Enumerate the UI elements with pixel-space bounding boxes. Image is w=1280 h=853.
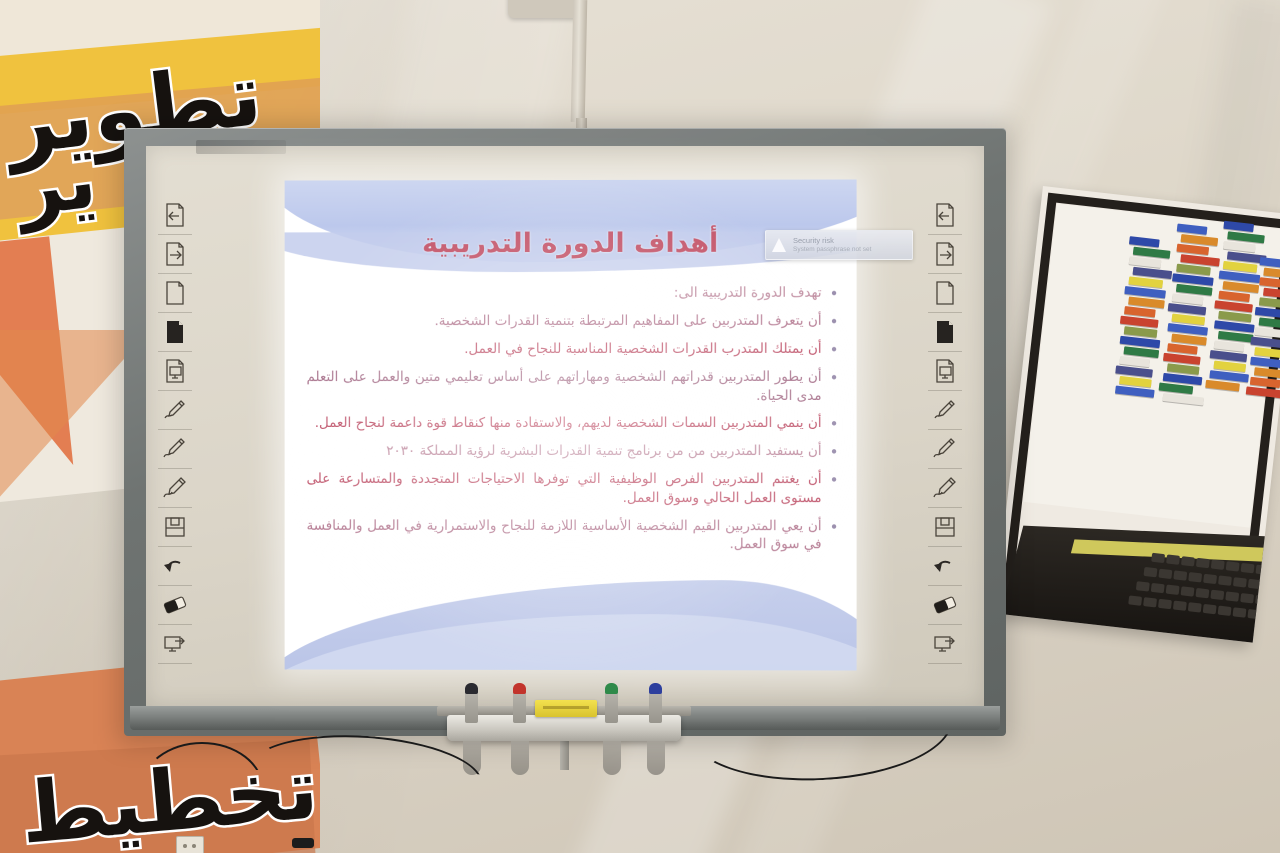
laptop-key <box>1144 567 1158 577</box>
marker-stroke-icon <box>933 475 957 501</box>
pen-stroke-icon <box>933 436 957 462</box>
laptop-key <box>1203 604 1217 614</box>
slide-bullet: •تهدف الدورة التدريبية الى: <box>307 284 839 304</box>
tool-pen-medium-r[interactable] <box>928 430 962 469</box>
monitor-page-icon <box>934 358 956 384</box>
slide-bullet: •أن يمتلك المتدرب القدرات الشخصية المناس… <box>307 340 839 359</box>
monitor-export-icon <box>933 632 957 656</box>
security-notification-toast[interactable]: Security risk System passphrase not set <box>765 230 913 260</box>
pen-slot <box>511 741 529 775</box>
slide-bullet: •أن يطور المتدربين قدراتهم الشخصية ومهار… <box>307 368 839 405</box>
laptop-key <box>1188 602 1202 612</box>
blank-page-icon <box>934 280 956 306</box>
tool-black-page-r[interactable] <box>928 313 962 352</box>
bullet-dot-icon: • <box>830 341 839 359</box>
tool-desktop-mode[interactable] <box>158 625 192 664</box>
eraser-icon <box>932 594 958 616</box>
bullet-dot-icon: • <box>830 518 839 536</box>
whiteboard-left-toolbar[interactable] <box>158 196 192 664</box>
notification-subtitle: System passphrase not set <box>793 246 906 254</box>
laptop-key <box>1143 597 1157 607</box>
tool-page-next-r[interactable] <box>928 235 962 274</box>
tool-undo-r[interactable] <box>928 547 962 586</box>
pen-slot <box>603 741 621 775</box>
tool-page-previous[interactable] <box>158 196 192 235</box>
tool-erase[interactable] <box>158 586 192 625</box>
book <box>1259 257 1280 268</box>
laptop-key <box>1173 570 1187 580</box>
pen-black[interactable] <box>465 691 478 723</box>
pen-green[interactable] <box>605 691 618 723</box>
laptop-key <box>1166 585 1180 595</box>
laptop-key <box>1226 561 1240 571</box>
laptop-key <box>1233 577 1247 587</box>
slide-bullet-text: أن ينمي المتدربين السمات الشخصية لديهم، … <box>307 414 822 433</box>
book <box>1205 380 1240 392</box>
filled-page-icon <box>164 319 186 345</box>
bullet-dot-icon: • <box>830 369 839 387</box>
tool-save[interactable] <box>158 508 192 547</box>
tool-black-page[interactable] <box>158 313 192 352</box>
laptop-key <box>1151 583 1165 593</box>
whiteboard-brand-logo <box>196 140 286 154</box>
monitor-export-icon <box>163 632 187 656</box>
tool-pen-thick[interactable] <box>158 469 192 508</box>
pen-cap-green <box>605 683 618 694</box>
slide-bullet-list: •تهدف الدورة التدريبية الى:•أن يتعرف الم… <box>307 284 839 563</box>
slide-bullet-text: أن يستفيد المتدربين من من برنامج تنمية ا… <box>307 442 822 461</box>
laptop-books-poster <box>994 186 1280 643</box>
bullet-dot-icon: • <box>830 313 839 331</box>
undo-arrow-icon <box>162 555 188 577</box>
tool-screen-capture[interactable] <box>158 352 192 391</box>
pen-stroke-icon <box>163 436 187 462</box>
slide-bullet: •أن يستفيد المتدربين من من برنامج تنمية … <box>307 442 839 461</box>
tool-save-r[interactable] <box>928 508 962 547</box>
tool-pen-medium[interactable] <box>158 430 192 469</box>
laptop-key <box>1233 607 1247 617</box>
monitor-page-icon <box>164 358 186 384</box>
tool-page-previous-r[interactable] <box>928 196 962 235</box>
blank-page-icon <box>164 280 186 306</box>
laptop-key <box>1136 581 1150 591</box>
pen-tray[interactable] <box>447 715 681 741</box>
eraser-icon <box>162 594 188 616</box>
tool-desktop-mode-r[interactable] <box>928 625 962 664</box>
laptop-key <box>1210 590 1224 600</box>
tool-new-page-r[interactable] <box>928 274 962 313</box>
classroom-scene: تطوير ير تخطيط أهداف الدورة التدريبية •ت… <box>0 0 1280 853</box>
undo-arrow-icon <box>932 555 958 577</box>
whiteboard-eraser[interactable] <box>535 700 597 717</box>
laptop-key <box>1196 558 1210 568</box>
book <box>1259 277 1280 289</box>
ceiling-mount-plate <box>508 0 582 18</box>
book <box>1162 393 1204 406</box>
slide-bullet-text: أن يتعرف المتدربين على المفاهيم المرتبطة… <box>307 312 822 331</box>
tool-erase-r[interactable] <box>928 586 962 625</box>
laptop-key <box>1151 553 1165 563</box>
slide-bullet-text: أن يعي المتدربين القيم الشخصية الأساسية … <box>307 516 822 554</box>
slide-bullet-text: أن يمتلك المتدرب القدرات الشخصية المناسب… <box>307 340 822 359</box>
tool-pen-thick-r[interactable] <box>928 469 962 508</box>
laptop-key <box>1181 556 1195 566</box>
notification-title: Security risk <box>793 236 906 245</box>
laptop-key <box>1158 599 1172 609</box>
laptop-key <box>1173 600 1187 610</box>
page-back-arrow-icon <box>164 202 186 228</box>
laptop-key <box>1188 572 1202 582</box>
marker-stroke-icon <box>163 475 187 501</box>
pen-slot <box>647 741 665 775</box>
slide-bullet: •أن ينمي المتدربين السمات الشخصية لديهم،… <box>307 414 839 433</box>
book <box>1115 386 1155 398</box>
floppy-disk-icon <box>163 515 187 539</box>
pencil-icon <box>933 397 957 423</box>
bullet-dot-icon: • <box>830 285 839 303</box>
page-forward-arrow-icon <box>164 241 186 267</box>
tool-undo[interactable] <box>158 547 192 586</box>
laptop-key <box>1240 593 1254 603</box>
cable-plug <box>292 838 314 848</box>
pen-cap-blue <box>649 683 662 694</box>
laptop-key <box>1128 595 1142 605</box>
laptop-key <box>1218 606 1232 616</box>
bullet-dot-icon: • <box>830 471 839 489</box>
slide-bullet-text: تهدف الدورة التدريبية الى: <box>307 284 822 303</box>
pen-red[interactable] <box>513 691 526 723</box>
pen-cap-black <box>465 683 478 694</box>
laptop-key <box>1203 574 1217 584</box>
laptop-key <box>1211 560 1225 570</box>
laptop-key <box>1218 575 1232 585</box>
laptop-key <box>1195 588 1209 598</box>
pencil-icon <box>163 397 187 423</box>
wall-socket <box>176 836 204 853</box>
bullet-dot-icon: • <box>830 415 839 433</box>
whiteboard-right-toolbar[interactable] <box>928 196 962 664</box>
warning-triangle-icon <box>772 238 787 252</box>
tool-pen-thin-r[interactable] <box>928 391 962 430</box>
laptop-key <box>1241 563 1255 573</box>
bullet-dot-icon: • <box>830 443 839 461</box>
wall-word-middle: ير <box>13 136 101 235</box>
slide-bullet-text: أن يغتنم المتدربين الفرص الوظيفية التي ت… <box>307 470 822 507</box>
tool-screen-capture-r[interactable] <box>928 352 962 391</box>
laptop-key <box>1225 591 1239 601</box>
pen-blue[interactable] <box>649 691 662 723</box>
filled-page-icon <box>934 319 956 345</box>
slide-bullet: •أن يغتنم المتدربين الفرص الوظيفية التي … <box>307 470 839 508</box>
laptop-key <box>1166 554 1180 564</box>
page-back-arrow-icon <box>934 202 956 228</box>
cable-conduit <box>571 0 588 122</box>
slide-bullet-text: أن يطور المتدربين قدراتهم الشخصية ومهارا… <box>307 368 822 405</box>
tool-page-next[interactable] <box>158 235 192 274</box>
slide-bullet: •أن يتعرف المتدربين على المفاهيم المرتبط… <box>307 312 839 331</box>
page-forward-arrow-icon <box>934 241 956 267</box>
slide-bullet: •أن يعي المتدربين القيم الشخصية الأساسية… <box>307 516 839 554</box>
tool-pen-thin[interactable] <box>158 391 192 430</box>
laptop-key <box>1181 586 1195 596</box>
floppy-disk-icon <box>933 515 957 539</box>
laptop-key <box>1158 569 1172 579</box>
pen-cap-red <box>513 683 526 694</box>
tool-new-page[interactable] <box>158 274 192 313</box>
book <box>1246 386 1280 398</box>
